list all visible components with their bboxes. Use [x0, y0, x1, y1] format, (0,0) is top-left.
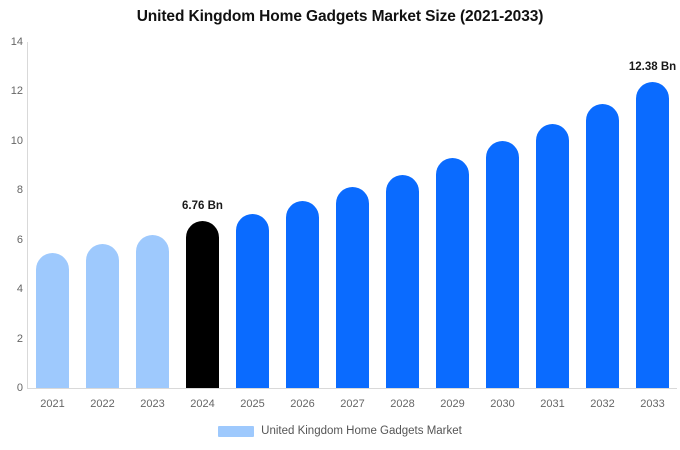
bar-2025[interactable] — [236, 214, 269, 388]
x-axis-tick-label: 2032 — [586, 398, 619, 410]
bar-2023[interactable] — [136, 235, 169, 388]
bar-2022[interactable] — [86, 244, 119, 388]
bar-2031[interactable] — [536, 124, 569, 388]
x-axis-tick-label: 2023 — [136, 398, 169, 410]
data-label-2033: 12.38 Bn — [603, 61, 680, 73]
x-axis-tick-label: 2029 — [436, 398, 469, 410]
x-axis-tick-label: 2027 — [336, 398, 369, 410]
bar-2029[interactable] — [436, 158, 469, 388]
chart-legend: United Kingdom Home Gadgets Market — [0, 425, 680, 437]
bar-2032[interactable] — [586, 104, 619, 388]
bar-2030[interactable] — [486, 141, 519, 388]
x-axis-tick-label: 2022 — [86, 398, 119, 410]
bar-2021[interactable] — [36, 253, 69, 388]
bar-2033[interactable] — [636, 82, 669, 388]
x-axis-tick-label: 2031 — [536, 398, 569, 410]
legend-label: United Kingdom Home Gadgets Market — [261, 425, 462, 437]
bar-2026[interactable] — [286, 201, 319, 388]
bar-2027[interactable] — [336, 187, 369, 388]
bars-layer: 20212022202320246.76 Bn20252026202720282… — [0, 0, 680, 450]
bar-2028[interactable] — [386, 175, 419, 388]
x-axis-tick-label: 2028 — [386, 398, 419, 410]
x-axis-tick-label: 2021 — [36, 398, 69, 410]
x-axis-tick-label: 2030 — [486, 398, 519, 410]
x-axis-tick-label: 2025 — [236, 398, 269, 410]
bar-2024[interactable] — [186, 221, 219, 388]
legend-swatch — [218, 426, 254, 437]
bar-chart: United Kingdom Home Gadgets Market Size … — [0, 0, 680, 450]
data-label-2024: 6.76 Bn — [153, 200, 253, 212]
x-axis-tick-label: 2026 — [286, 398, 319, 410]
x-axis-tick-label: 2024 — [186, 398, 219, 410]
x-axis-tick-label: 2033 — [636, 398, 669, 410]
